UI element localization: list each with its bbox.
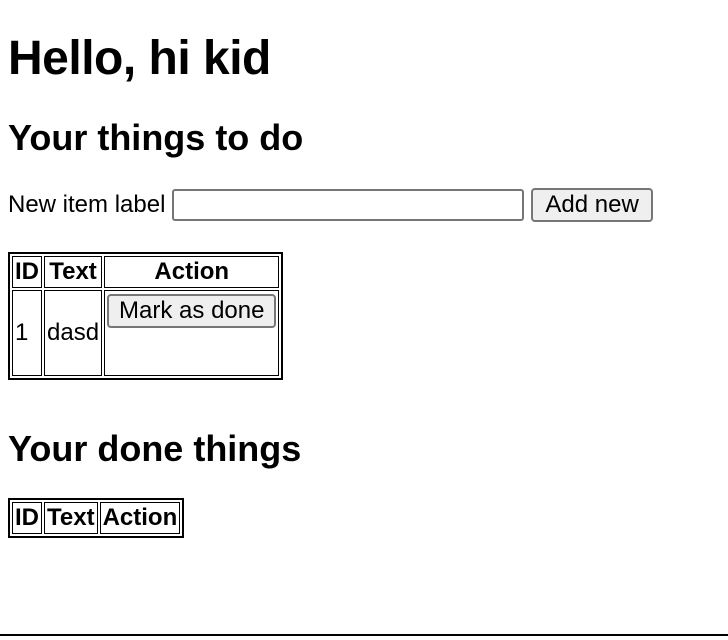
browser-viewport: Hello, hi kid Your things to do New item… [0,0,728,640]
pending-table-head: ID Text Action [12,256,279,288]
column-header-action: Action [104,256,279,288]
done-todo-table: ID Text Action [8,498,184,538]
pending-todo-table: ID Text Action 1 dasd Mark as done [8,252,283,380]
pending-table-body: 1 dasd Mark as done [12,290,279,376]
todo-section-title: Your things to do [8,118,720,158]
column-header-id: ID [12,502,42,534]
table-row: 1 dasd Mark as done [12,290,279,376]
page-content: Hello, hi kid Your things to do New item… [8,32,720,538]
column-header-text: Text [44,502,98,534]
done-section-title: Your done things [8,429,720,469]
viewport-bottom-border [0,634,728,636]
column-header-text: Text [44,256,102,288]
table-header-row: ID Text Action [12,256,279,288]
new-item-label: New item label [8,191,165,219]
cell-id: 1 [12,290,42,376]
column-header-action: Action [100,502,181,534]
cell-text: dasd [44,290,102,376]
column-header-id: ID [12,256,42,288]
done-table-head: ID Text Action [12,502,180,534]
cell-action: Mark as done [104,290,279,376]
table-header-row: ID Text Action [12,502,180,534]
mark-as-done-button[interactable]: Mark as done [107,294,276,328]
add-item-form: New item label Add new [8,188,720,222]
page-title: Hello, hi kid [8,32,720,86]
new-item-input[interactable] [172,189,524,221]
add-new-button[interactable]: Add new [531,188,652,222]
